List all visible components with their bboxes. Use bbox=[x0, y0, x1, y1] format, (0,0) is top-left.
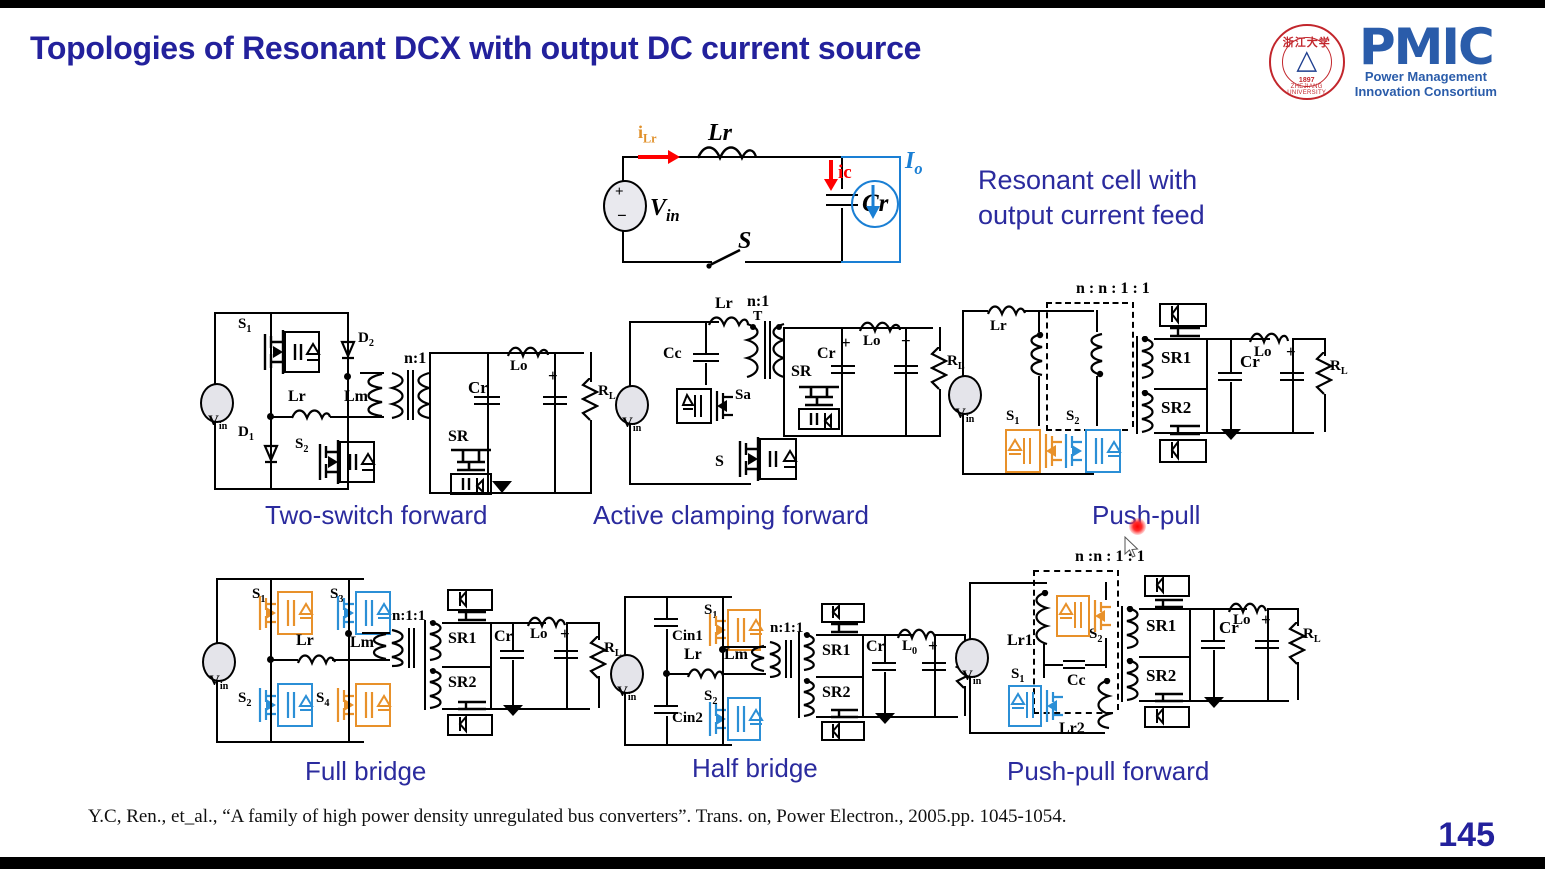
mosfet-s2-icon bbox=[706, 694, 768, 742]
label-vin: Vin bbox=[962, 668, 981, 687]
label-sr: SR bbox=[791, 363, 811, 381]
click-indicator bbox=[1129, 518, 1146, 535]
secondary-winding-1-icon bbox=[1123, 606, 1143, 650]
magnetizing-inductor-lm-icon bbox=[364, 632, 390, 662]
zhejiang-university-seal-icon: 浙江大学 △ 1897 ZHEJIANG UNIVERSITY bbox=[1269, 24, 1345, 100]
label-sr1: SR1 bbox=[1161, 348, 1191, 368]
caption-active-clamping-forward: Active clamping forward bbox=[593, 500, 869, 531]
seal-year: 1897 bbox=[1271, 77, 1343, 84]
inductor-lr-icon bbox=[290, 406, 332, 422]
ground-icon bbox=[1220, 426, 1242, 442]
label-d2: D2 bbox=[358, 330, 374, 349]
logo-group: 浙江大学 △ 1897 ZHEJIANG UNIVERSITY PMIC Pow… bbox=[1269, 24, 1497, 100]
label-s1: S1 bbox=[238, 316, 251, 335]
diode-d2-icon bbox=[338, 334, 358, 368]
sync-rect-sr1-icon bbox=[1141, 574, 1195, 614]
label-s4: S4 bbox=[316, 690, 329, 709]
label-vin: Vin bbox=[955, 406, 974, 425]
circuit-two-switch-forward: Vin S1 D2 D1 S2 bbox=[210, 308, 590, 498]
label-vin: Vin bbox=[209, 673, 228, 692]
label-vin: Vin bbox=[208, 413, 227, 432]
mosfet-s1-icon bbox=[1002, 426, 1068, 478]
label-lo: Lo bbox=[530, 626, 548, 643]
inductor-lr-icon bbox=[986, 302, 1026, 318]
transformer-icon bbox=[388, 628, 428, 668]
mouse-pointer-icon bbox=[1124, 536, 1140, 560]
secondary-winding-2-icon bbox=[1123, 658, 1143, 702]
label-vin: Vin bbox=[622, 415, 641, 434]
current-source-arrow-icon bbox=[864, 185, 884, 221]
magnetizing-inductor-lm-icon bbox=[744, 644, 768, 674]
label-output-plus: + bbox=[560, 624, 570, 644]
resonant-cell-schematic: + − Vin Lr iLr S Cr ic bbox=[610, 118, 930, 278]
label-s2: S2 bbox=[238, 690, 251, 709]
pmic-wordmark: PMIC bbox=[1359, 24, 1493, 70]
label-cr: Cr bbox=[817, 345, 836, 363]
page-title: Topologies of Resonant DCX with output D… bbox=[30, 30, 921, 67]
label-lr: Lr bbox=[715, 295, 733, 313]
winding-lr2-icon bbox=[1093, 678, 1113, 732]
label-sa: Sa bbox=[735, 387, 751, 404]
sync-rect-sr1-icon bbox=[1156, 302, 1212, 344]
label-switch-s: S bbox=[738, 228, 751, 255]
label-sr2: SR2 bbox=[1146, 666, 1176, 686]
label-vin: Vin bbox=[650, 195, 680, 226]
label-transformer-t: T bbox=[753, 309, 762, 325]
label-output-plus: + bbox=[1286, 342, 1296, 362]
label-ic: ic bbox=[838, 162, 852, 184]
label-output-plus: + bbox=[1261, 610, 1271, 630]
mosfet-s2-icon bbox=[256, 682, 322, 730]
label-s2: S2 bbox=[295, 436, 308, 455]
label-turns-ratio: n:1 bbox=[404, 350, 426, 368]
inductor-lr-icon bbox=[696, 144, 758, 166]
label-lr: Lr bbox=[296, 632, 314, 650]
primary-winding-2-icon bbox=[1086, 332, 1106, 378]
current-arrow-ilr-icon bbox=[638, 148, 680, 168]
mosfet-s2-icon bbox=[1062, 426, 1128, 478]
seal-english-name: ZHEJIANG UNIVERSITY bbox=[1271, 84, 1343, 96]
mosfet-s2-icon bbox=[310, 436, 388, 488]
secondary-winding-1-icon bbox=[426, 620, 446, 662]
label-rl: RL bbox=[1330, 358, 1348, 377]
primary-winding-1-icon bbox=[1026, 332, 1046, 378]
slide-canvas: Topologies of Resonant DCX with output D… bbox=[0, 8, 1545, 857]
label-s1: S1 bbox=[1006, 408, 1019, 427]
secondary-winding-1-icon bbox=[800, 632, 820, 672]
circuit-half-bridge: Vin Cin1 Cin2 S1 S2 bbox=[620, 588, 980, 753]
secondary-winding-2-icon bbox=[1138, 390, 1158, 434]
pmic-tagline-2: Innovation Consortium bbox=[1355, 85, 1497, 100]
label-cr: Cr bbox=[866, 638, 885, 656]
label-lo: Lo bbox=[510, 358, 528, 375]
circuit-full-bridge: Vin S1 S3 S2 S4 bbox=[212, 568, 592, 748]
inductor-lr-icon bbox=[296, 651, 336, 667]
secondary-winding-1-icon bbox=[1138, 336, 1158, 380]
label-lo: Lo bbox=[1233, 612, 1251, 629]
mosfet-s1-icon bbox=[256, 590, 322, 638]
letterbox-top bbox=[0, 0, 1545, 8]
label-cc: Cc bbox=[663, 345, 682, 363]
diode-d1-icon bbox=[261, 438, 281, 472]
label-lr: Lr bbox=[990, 318, 1007, 335]
label-sr: SR bbox=[448, 428, 468, 446]
load-resistor-rl-icon bbox=[930, 347, 948, 393]
circuit-push-pull: n : n : 1 : 1 Vin Lr S1 bbox=[958, 280, 1338, 495]
label-lr: Lr bbox=[708, 120, 732, 147]
label-sr2: SR2 bbox=[822, 684, 850, 702]
label-output-plus: + bbox=[548, 366, 558, 386]
label-sr2: SR2 bbox=[448, 674, 476, 692]
label-lr: Lr bbox=[288, 388, 306, 406]
label-sr2: SR2 bbox=[1161, 398, 1191, 418]
sync-rect-sr2-icon bbox=[1156, 424, 1212, 468]
inductor-lr-icon bbox=[686, 665, 724, 681]
secondary-winding-2-icon bbox=[800, 678, 820, 718]
sync-rect-sr-icon bbox=[793, 385, 847, 433]
secondary-winding-2-icon bbox=[426, 668, 446, 710]
caption-push-pull: Push-pull bbox=[1092, 500, 1200, 531]
ground-icon bbox=[1203, 694, 1225, 710]
circuit-active-clamping-forward: Vin Cc Sa Lr n:1 T bbox=[625, 303, 965, 493]
label-output-plus: + bbox=[901, 331, 911, 351]
circuit-push-pull-forward: n :n : 1 : 1 Vin Lr1 S1 Cc S2 bbox=[965, 548, 1340, 748]
label-cin1: Cin1 bbox=[672, 628, 703, 645]
label-turns-ratio: n : n : 1 : 1 bbox=[1076, 280, 1150, 298]
transformer-icon bbox=[766, 640, 802, 678]
label-cc: Cc bbox=[1067, 672, 1086, 690]
ground-icon bbox=[874, 710, 896, 726]
label-output-plus: + bbox=[928, 636, 938, 656]
label-lr1: Lr1 bbox=[1007, 632, 1033, 650]
label-cr-plus: + bbox=[841, 333, 851, 353]
reference-citation: Y.C, Ren., et_al., “A family of high pow… bbox=[88, 806, 1067, 828]
seal-bird-icon: △ bbox=[1296, 46, 1317, 73]
page-number: 145 bbox=[1438, 816, 1495, 855]
label-lr2: Lr2 bbox=[1059, 720, 1085, 738]
pmic-tagline-1: Power Management bbox=[1365, 70, 1487, 85]
label-sr1: SR1 bbox=[822, 642, 850, 660]
label-rl: RL bbox=[598, 383, 616, 402]
label-ilr: iLr bbox=[638, 122, 657, 147]
label-rl: RL bbox=[1303, 626, 1321, 645]
label-cin2: Cin2 bbox=[672, 710, 703, 727]
label-lo: Lo bbox=[863, 333, 881, 350]
mosfet-s4-icon bbox=[334, 682, 400, 730]
label-cr: Cr bbox=[468, 378, 488, 398]
transformer-icon bbox=[388, 370, 430, 420]
letterbox-bottom bbox=[0, 857, 1545, 869]
label-vin: Vin bbox=[617, 684, 636, 703]
transformer-t-icon bbox=[743, 321, 785, 379]
ground-icon bbox=[502, 702, 524, 718]
winding-lr1-icon bbox=[1031, 590, 1051, 652]
label-s2: S2 bbox=[1066, 408, 1079, 427]
label-lr: Lr bbox=[684, 646, 702, 664]
sync-rect-sr2-icon bbox=[1141, 692, 1195, 734]
label-d1: D1 bbox=[238, 424, 254, 443]
label-io: Io bbox=[905, 148, 923, 179]
caption-two-switch-forward: Two-switch forward bbox=[265, 500, 488, 531]
label-cr: Cr bbox=[494, 628, 513, 646]
mosfet-s2-icon bbox=[1053, 592, 1117, 642]
caption-full-bridge: Full bridge bbox=[305, 756, 426, 787]
load-resistor-rl-icon bbox=[581, 378, 599, 424]
label-s: S bbox=[715, 453, 724, 471]
mosfet-s-icon bbox=[730, 435, 810, 483]
label-lo: L0 bbox=[902, 638, 917, 657]
resonant-cell-caption: Resonant cell with output current feed bbox=[978, 163, 1205, 233]
label-sr1: SR1 bbox=[1146, 616, 1176, 636]
mosfet-s1-icon bbox=[255, 326, 333, 378]
label-turns-ratio: n:1:1 bbox=[392, 608, 425, 625]
pmic-logo: PMIC Power Management Innovation Consort… bbox=[1355, 24, 1497, 99]
magnetizing-inductor-lm-icon bbox=[360, 372, 388, 418]
caption-push-pull-forward: Push-pull forward bbox=[1007, 756, 1209, 787]
label-lo: Lo bbox=[1254, 344, 1272, 361]
label-sr1: SR1 bbox=[448, 630, 476, 648]
caption-half-bridge: Half bridge bbox=[692, 753, 818, 784]
